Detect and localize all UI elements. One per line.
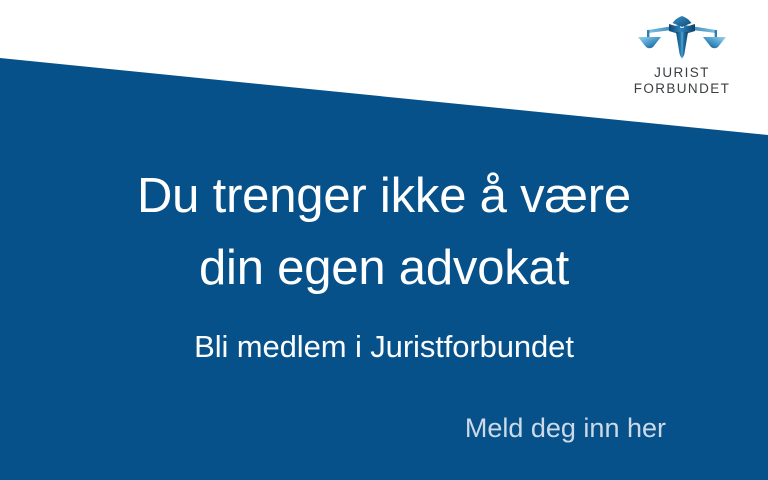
- advertisement-banner[interactable]: JURIST FORBUNDET Du trenger ikke å være …: [0, 0, 768, 480]
- headline: Du trenger ikke å være din egen advokat: [0, 160, 768, 304]
- headline-line-2: din egen advokat: [0, 232, 768, 304]
- logo-wordmark-line-2: FORBUNDET: [618, 81, 746, 97]
- signup-cta-link[interactable]: Meld deg inn her: [465, 410, 666, 446]
- subheading: Bli medlem i Juristforbundet: [0, 327, 768, 367]
- logo-wordmark-line-1: JURIST: [618, 65, 746, 81]
- brand-logo[interactable]: JURIST FORBUNDET: [618, 14, 746, 97]
- headline-line-1: Du trenger ikke å være: [0, 160, 768, 232]
- scales-of-justice-icon: [636, 14, 728, 62]
